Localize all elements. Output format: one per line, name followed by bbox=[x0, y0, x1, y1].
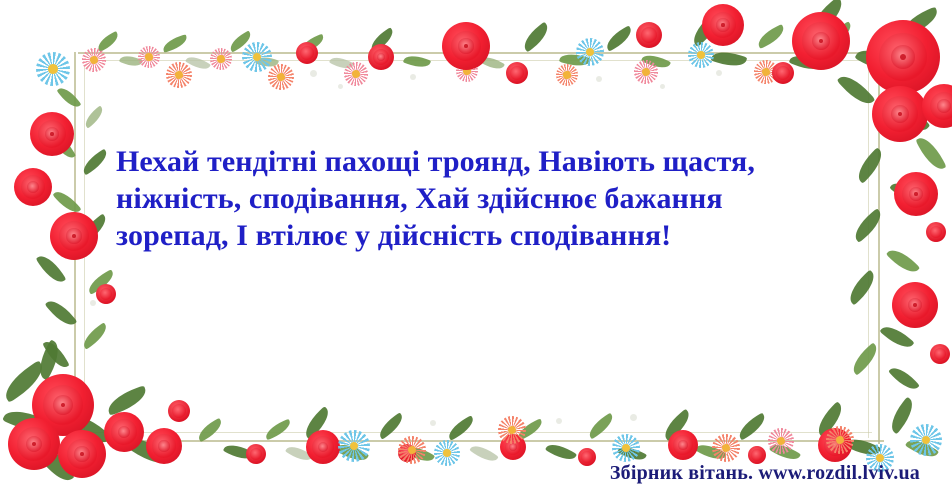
daisy-flower-icon bbox=[398, 436, 426, 464]
daisy-flower-icon bbox=[82, 48, 106, 72]
cornflower-icon bbox=[36, 52, 70, 86]
rose-bud-icon bbox=[368, 44, 394, 70]
credit-line: Збірник вітань. www.rozdil.lviv.ua bbox=[0, 462, 920, 485]
leaf-icon bbox=[837, 70, 876, 110]
speckle-dot bbox=[716, 70, 722, 76]
rose-flower-icon bbox=[30, 112, 74, 156]
leaf-icon bbox=[545, 439, 577, 464]
leaf-icon bbox=[57, 84, 82, 111]
rose-flower-icon bbox=[442, 22, 490, 70]
cornflower-icon bbox=[688, 42, 714, 68]
leaf-icon bbox=[852, 147, 888, 183]
rose-flower-icon bbox=[702, 4, 744, 46]
leaf-icon bbox=[195, 418, 225, 442]
rose-bud-icon bbox=[168, 400, 190, 422]
leaf-icon bbox=[45, 295, 78, 330]
greeting-verse-text: Нехай тендітні пахощі троянд, Навіють ща… bbox=[116, 143, 806, 254]
greeting-card: Нехай тендітні пахощі троянд, Навіють ща… bbox=[0, 0, 952, 496]
rose-flower-icon bbox=[892, 282, 938, 328]
rose-flower-icon bbox=[104, 412, 144, 452]
rose-bud-icon bbox=[96, 284, 116, 304]
vine-stem-right-secondary bbox=[868, 66, 869, 438]
leaf-icon bbox=[735, 413, 769, 441]
speckle-dot bbox=[596, 76, 602, 82]
leaf-icon bbox=[104, 385, 149, 415]
speckle-dot bbox=[430, 420, 436, 426]
cornflower-icon bbox=[612, 434, 640, 462]
rose-bud-icon bbox=[506, 62, 528, 84]
rose-bud-icon bbox=[772, 62, 794, 84]
leaf-icon bbox=[711, 47, 748, 71]
cornflower-icon bbox=[242, 42, 272, 72]
rose-bud-icon bbox=[636, 22, 662, 48]
leaf-icon bbox=[915, 133, 946, 174]
leaf-icon bbox=[844, 270, 880, 306]
rose-flower-icon bbox=[14, 168, 52, 206]
daisy-flower-icon bbox=[166, 62, 192, 88]
rose-flower-icon bbox=[50, 212, 98, 260]
daisy-flower-icon bbox=[826, 426, 854, 454]
speckle-dot bbox=[338, 84, 343, 89]
leaf-icon bbox=[886, 244, 920, 278]
rose-flower-icon bbox=[306, 430, 340, 464]
speckle-dot bbox=[556, 418, 562, 424]
leaf-icon bbox=[403, 52, 431, 71]
rose-flower-icon bbox=[872, 86, 928, 142]
leaf-icon bbox=[161, 34, 189, 52]
rose-flower-icon bbox=[792, 12, 850, 70]
rose-bud-icon bbox=[246, 444, 266, 464]
speckle-dot bbox=[630, 414, 637, 421]
leaf-icon bbox=[755, 24, 788, 49]
daisy-flower-icon bbox=[344, 62, 368, 86]
daisy-flower-icon bbox=[712, 434, 740, 462]
daisy-flower-icon bbox=[768, 428, 794, 454]
speckle-dot bbox=[90, 300, 96, 306]
vine-stem-bottom bbox=[72, 440, 884, 442]
daisy-flower-icon bbox=[210, 48, 232, 70]
daisy-flower-icon bbox=[138, 46, 160, 68]
cornflower-icon bbox=[910, 424, 942, 456]
rose-bud-icon bbox=[926, 222, 946, 242]
rose-bud-icon bbox=[930, 344, 950, 364]
leaf-icon bbox=[585, 413, 617, 440]
cornflower-icon bbox=[338, 430, 370, 462]
rose-flower-icon bbox=[894, 172, 938, 216]
daisy-flower-icon bbox=[634, 60, 658, 84]
speckle-dot bbox=[410, 74, 416, 80]
cornflower-icon bbox=[576, 38, 604, 66]
leaf-icon bbox=[603, 25, 635, 51]
leaf-icon bbox=[888, 362, 920, 394]
rose-flower-icon bbox=[866, 20, 940, 94]
rose-bud-icon bbox=[296, 42, 318, 64]
leaf-icon bbox=[375, 412, 406, 439]
daisy-flower-icon bbox=[556, 64, 578, 86]
leaf-icon bbox=[82, 105, 107, 128]
leaf-icon bbox=[263, 419, 293, 440]
speckle-dot bbox=[660, 84, 665, 89]
rose-flower-icon bbox=[146, 428, 182, 464]
speckle-dot bbox=[310, 70, 317, 77]
daisy-flower-icon bbox=[268, 64, 294, 90]
rose-flower-icon bbox=[668, 430, 698, 460]
daisy-flower-icon bbox=[498, 416, 526, 444]
leaf-icon bbox=[445, 415, 477, 440]
leaf-icon bbox=[519, 22, 553, 53]
